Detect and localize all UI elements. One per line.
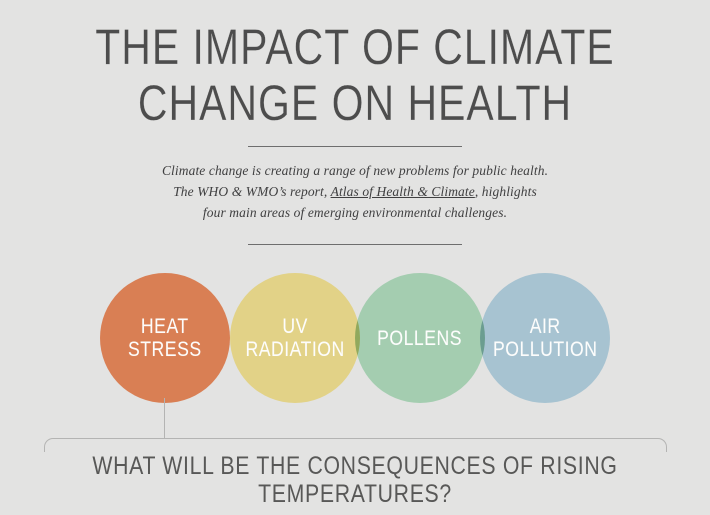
bracket-connector	[0, 398, 710, 453]
intro-line-3: four main areas of emerging environmenta…	[0, 202, 710, 223]
title-line-2: CHANGE ON HEALTH	[64, 78, 646, 128]
category-circle-air-pollution[interactable]: AIR POLLUTION	[480, 273, 610, 403]
intro-line-2-post: , highlights	[475, 184, 537, 199]
intro-line-1: Climate change is creating a range of ne…	[0, 160, 710, 181]
footer-question: WHAT WILL BE THE CONSEQUENCES OF RISING …	[53, 452, 657, 508]
divider-bottom	[248, 244, 462, 245]
connector-bracket	[44, 438, 667, 452]
page-title: THE IMPACT OF CLIMATE CHANGE ON HEALTH	[0, 22, 710, 128]
category-circle-uv-radiation[interactable]: UV RADIATION	[230, 273, 360, 403]
category-circles: HEAT STRESS UV RADIATION POLLENS AIR POL…	[0, 271, 710, 405]
intro-line-2: The WHO & WMO’s report, Atlas of Health …	[0, 181, 710, 202]
category-label: AIR POLLUTION	[493, 315, 598, 361]
title-line-1: THE IMPACT OF CLIMATE	[64, 22, 646, 72]
intro-line-2-pre: The WHO & WMO’s report,	[173, 184, 330, 199]
category-label: POLLENS	[378, 327, 463, 350]
divider-top	[248, 146, 462, 147]
category-circle-heat-stress[interactable]: HEAT STRESS	[100, 273, 230, 403]
intro-paragraph: Climate change is creating a range of ne…	[0, 160, 710, 223]
category-label: UV RADIATION	[245, 315, 344, 361]
infographic-poster: THE IMPACT OF CLIMATE CHANGE ON HEALTH C…	[0, 0, 710, 515]
report-title-link[interactable]: Atlas of Health & Climate	[331, 184, 475, 199]
connector-stem	[164, 398, 165, 438]
category-label: HEAT STRESS	[128, 315, 202, 361]
category-circle-pollens[interactable]: POLLENS	[355, 273, 485, 403]
